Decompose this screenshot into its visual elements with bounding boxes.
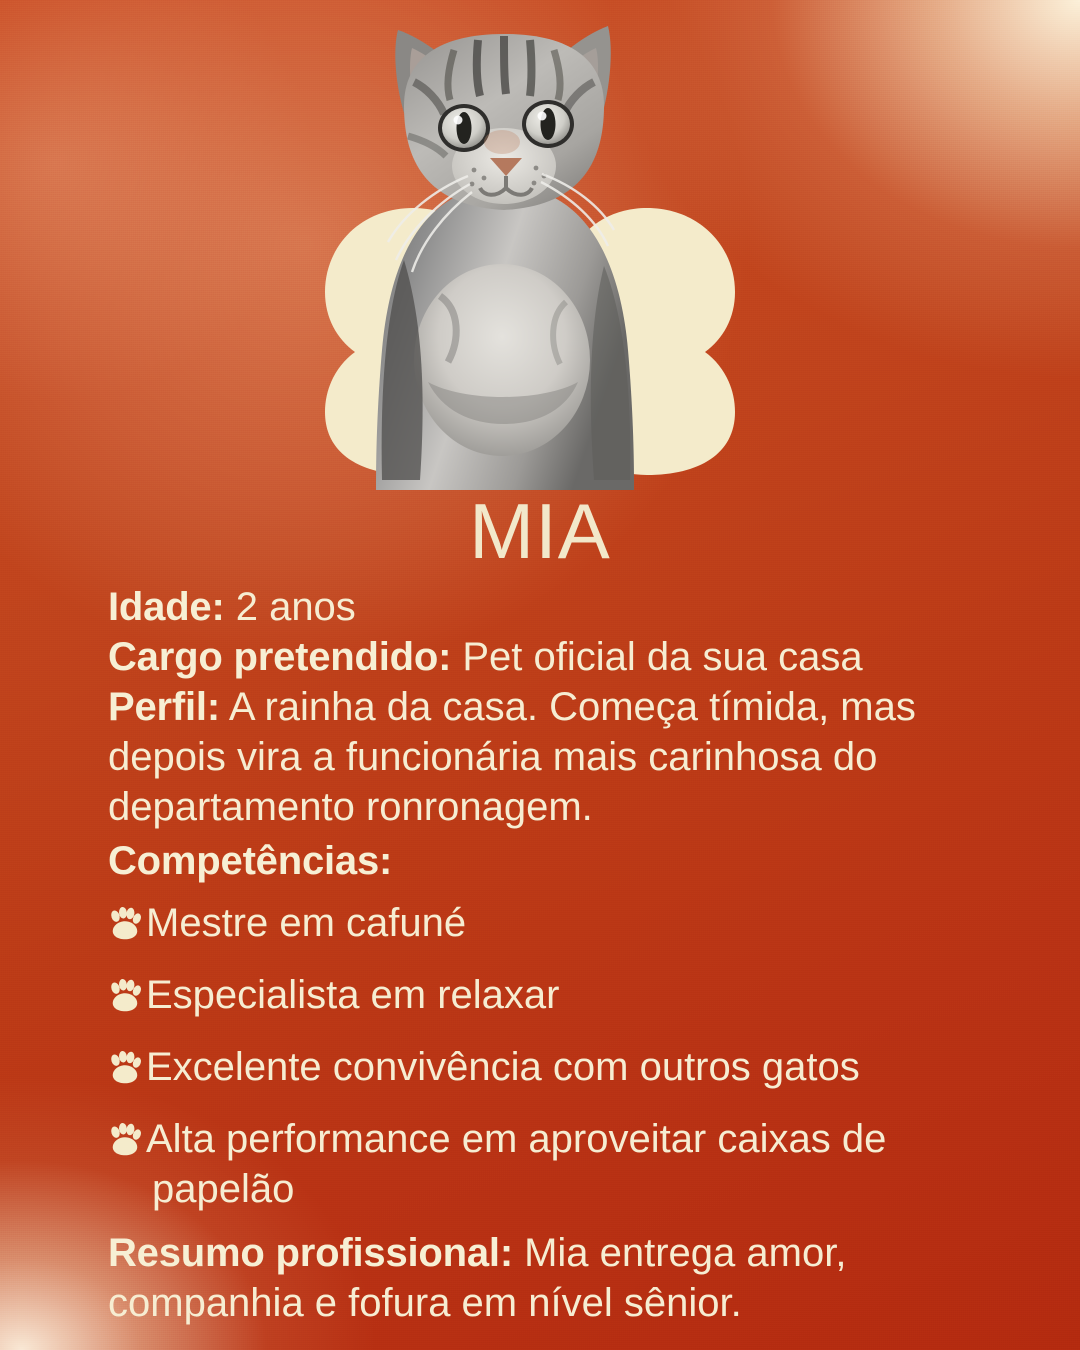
- field-resumo: Resumo profissional: Mia entrega amor, c…: [108, 1228, 1038, 1328]
- hero-section: [0, 0, 1080, 500]
- list-item-label: Excelente convivência com outros gatos: [146, 1045, 860, 1089]
- list-item: Alta performance em aproveitar caixas de…: [108, 1114, 1038, 1214]
- list-item: Mestre em cafuné: [108, 898, 1038, 948]
- paw-print-icon: [108, 1123, 142, 1157]
- field-idade: Idade: 2 anos: [108, 582, 1038, 632]
- field-cargo: Cargo pretendido: Pet oficial da sua cas…: [108, 632, 1038, 682]
- field-perfil-value: A rainha da casa. Começa tímida, mas dep…: [108, 685, 916, 829]
- pet-details: Idade: 2 anos Cargo pretendido: Pet ofic…: [108, 582, 1038, 1328]
- paw-print-icon: [108, 1051, 142, 1085]
- list-item-label: Alta performance em aproveitar caixas de…: [146, 1117, 886, 1211]
- field-perfil-label: Perfil:: [108, 685, 220, 729]
- page-title: MIA: [0, 492, 1080, 570]
- field-cargo-value: Pet oficial da sua casa: [451, 635, 862, 679]
- list-item-label: Mestre em cafuné: [146, 901, 466, 945]
- paw-print-icon: [108, 979, 142, 1013]
- field-idade-label: Idade:: [108, 585, 225, 629]
- field-cargo-label: Cargo pretendido:: [108, 635, 451, 679]
- skills-list: Mestre em cafuné Especialista em relaxar…: [108, 898, 1038, 1214]
- field-resumo-label: Resumo profissional:: [108, 1231, 513, 1275]
- list-item-label: Especialista em relaxar: [146, 973, 560, 1017]
- skills-heading-label: Competências:: [108, 839, 392, 883]
- field-perfil: Perfil: A rainha da casa. Começa tímida,…: [108, 682, 1038, 832]
- list-item: Especialista em relaxar: [108, 970, 1038, 1020]
- skills-heading: Competências:: [108, 836, 1038, 886]
- field-idade-value: 2 anos: [225, 585, 356, 629]
- paw-print-icon: [108, 907, 142, 941]
- list-item: Excelente convivência com outros gatos: [108, 1042, 1038, 1092]
- cat-photo: [352, 10, 657, 490]
- pet-cv-card: MIA Idade: 2 anos Cargo pretendido: Pet …: [0, 0, 1080, 1350]
